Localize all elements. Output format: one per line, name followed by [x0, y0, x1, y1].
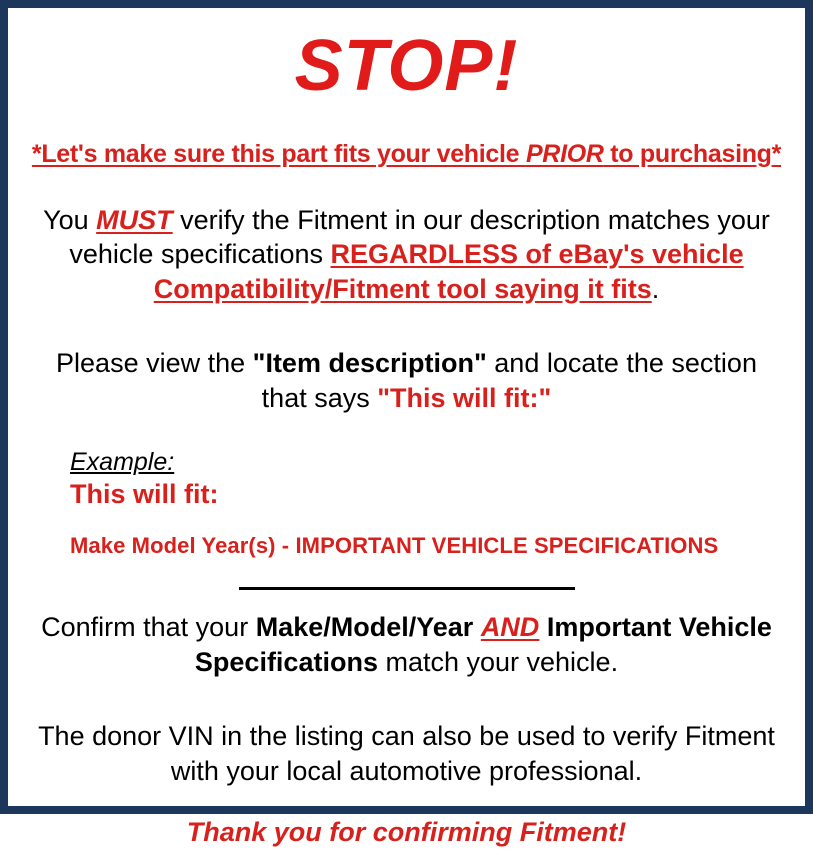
tagline-prior-emphasis: PRIOR	[526, 140, 604, 168]
must-verify-paragraph: You MUST verify the Fitment in our descr…	[22, 203, 791, 307]
example-spec-line: Make Model Year(s) - IMPORTANT VEHICLE S…	[70, 533, 791, 558]
and-emphasis: AND	[481, 612, 540, 642]
itemdesc-text-1: Please view the	[56, 348, 253, 378]
tagline: *Let's make sure this part fits your veh…	[22, 140, 791, 169]
tagline-after: to purchasing*	[604, 140, 781, 168]
this-will-fit-emphasis: "This will fit:"	[377, 383, 551, 413]
divider	[22, 580, 791, 598]
must-text-1: You	[43, 205, 96, 235]
confirm-space-2	[539, 612, 547, 642]
item-description-emphasis: "Item description"	[253, 348, 487, 378]
make-model-year-emphasis: Make/Model/Year	[256, 612, 474, 642]
tagline-before: *Let's make sure this part fits your veh…	[32, 140, 526, 168]
thank-you-line: Thank you for confirming Fitment!	[22, 816, 791, 848]
donor-vin-paragraph: The donor VIN in the listing can also be…	[22, 719, 791, 788]
item-description-paragraph: Please view the "Item description" and l…	[22, 346, 791, 415]
confirm-paragraph: Confirm that your Make/Model/Year AND Im…	[22, 610, 791, 679]
confirm-text-1: Confirm that your	[41, 612, 256, 642]
divider-rule	[239, 587, 575, 590]
confirm-space-1	[473, 612, 481, 642]
confirm-text-2: match your vehicle.	[378, 647, 618, 677]
fitment-notice-body: STOP! *Let's make sure this part fits yo…	[8, 8, 805, 806]
example-label: Example:	[70, 449, 791, 477]
must-emphasis: MUST	[96, 205, 173, 235]
stop-heading: STOP!	[22, 30, 791, 102]
example-fit-line: This will fit:	[70, 479, 791, 511]
must-text-3: .	[652, 274, 660, 304]
example-block: Example: This will fit: Make Model Year(…	[22, 449, 791, 558]
fitment-notice-frame: STOP! *Let's make sure this part fits yo…	[0, 0, 813, 814]
